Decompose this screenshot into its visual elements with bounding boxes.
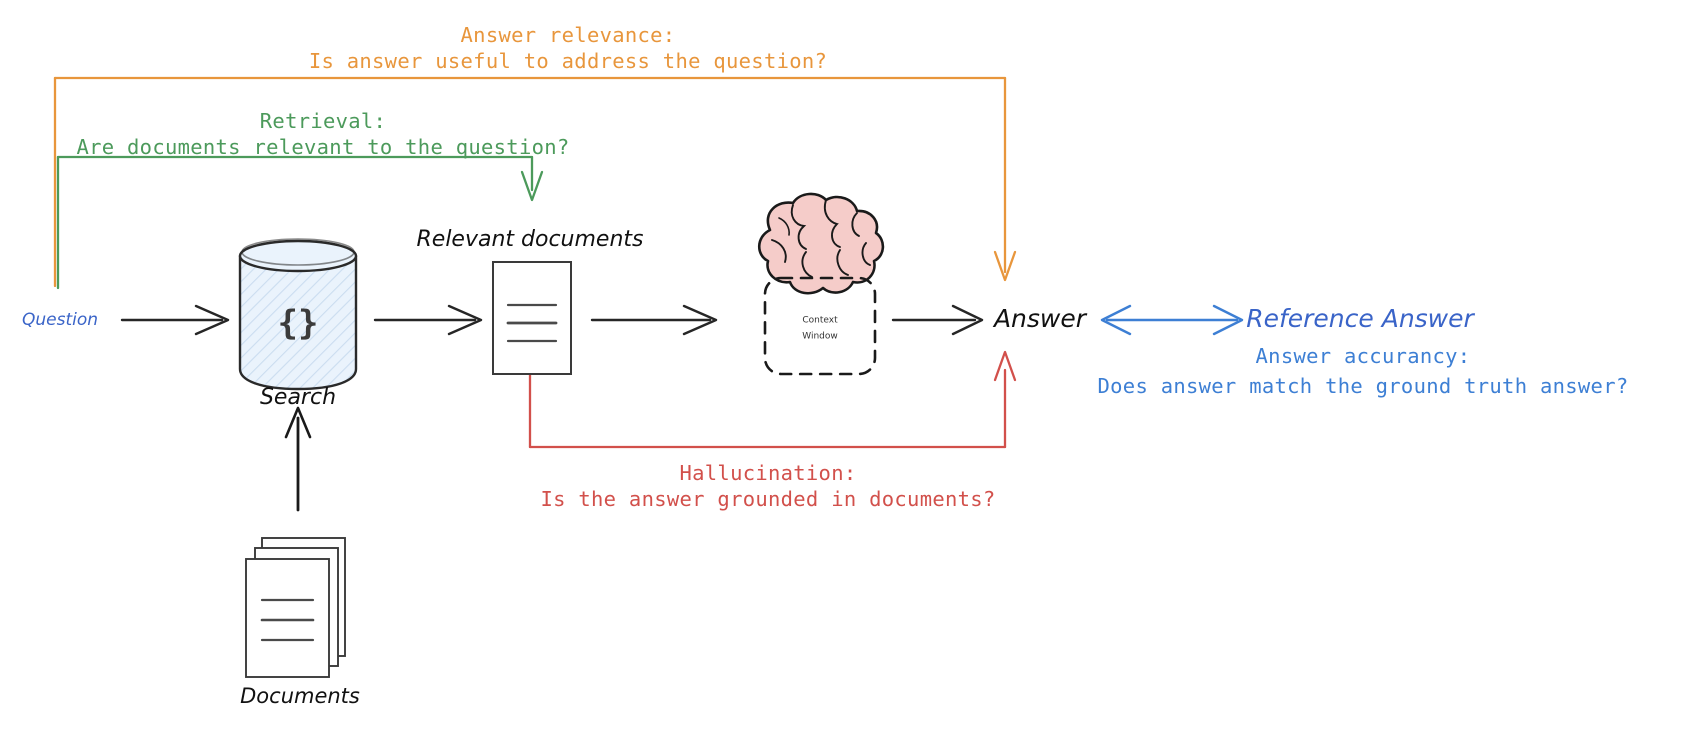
documents-label: Documents [240, 684, 360, 708]
search-database-icon: {} [240, 239, 356, 389]
context-window-line1: Context [802, 316, 838, 326]
arrow-search-to-document [375, 306, 481, 334]
hallucination-line2: Is the answer grounded in documents? [540, 487, 995, 511]
answer-accuracy-line1: Answer accurancy: [1256, 344, 1471, 368]
documents-stack-icon [246, 538, 345, 677]
question-label: Question [22, 310, 98, 330]
hallucination-line1: Hallucination: [680, 461, 857, 485]
reference-answer-label: Reference Answer [1246, 304, 1475, 333]
answer-accuracy-line2: Does answer match the ground truth answe… [1098, 374, 1629, 398]
relevant-document-icon [493, 262, 571, 374]
answer-relevance-line1: Answer relevance: [461, 23, 676, 47]
arrow-question-to-search [122, 306, 228, 334]
answer-reference-compare-arrow [1102, 306, 1242, 334]
retrieval-line1: Retrieval: [260, 109, 386, 133]
relevant-documents-label: Relevant documents [417, 227, 644, 252]
retrieval-line2: Are documents relevant to the question? [76, 135, 569, 159]
arrow-documents-to-search [286, 408, 310, 510]
arrow-document-to-context [592, 306, 716, 334]
answer-label: Answer [992, 304, 1088, 333]
search-braces-glyph: {} [278, 304, 319, 344]
rag-evaluation-diagram: Answer relevance: Is answer useful to ad… [0, 0, 1696, 731]
hallucination-path [530, 340, 1015, 447]
diagram-canvas: Answer relevance: Is answer useful to ad… [0, 0, 1696, 731]
context-window-box [765, 278, 875, 374]
arrow-context-to-answer [893, 306, 982, 334]
context-window-line2: Window [802, 332, 838, 342]
search-label: Search [260, 385, 336, 410]
answer-relevance-line2: Is answer useful to address the question… [309, 49, 827, 73]
